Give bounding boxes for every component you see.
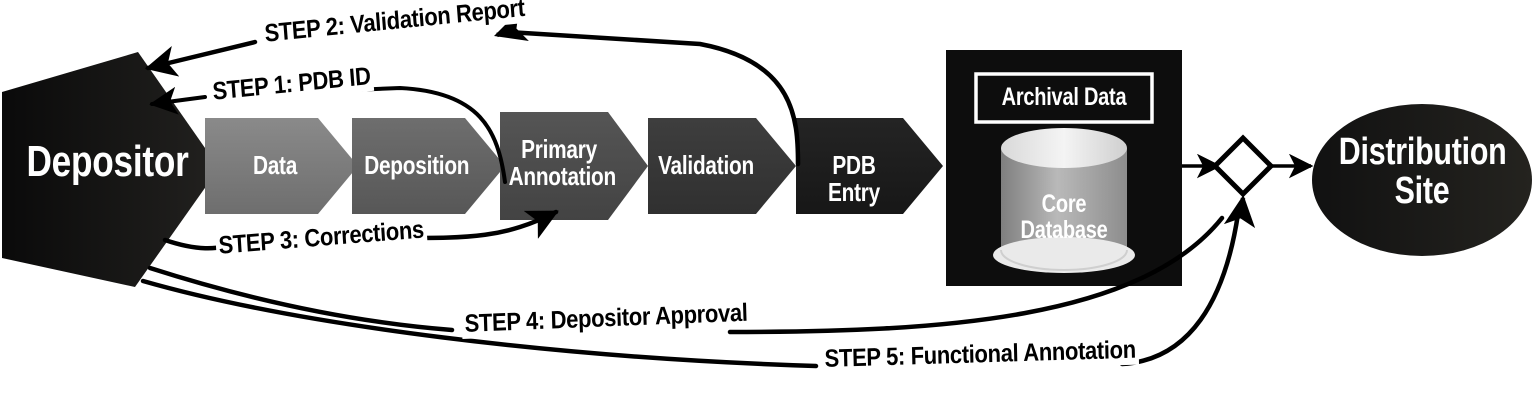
database-cylinder-top — [1001, 128, 1127, 168]
step-4-path-left — [150, 268, 452, 330]
diagram-canvas — [0, 0, 1532, 411]
stage-shape-deposition[interactable] — [352, 118, 505, 214]
depositor-shape[interactable] — [2, 52, 219, 287]
stage-shape-validation[interactable] — [648, 118, 796, 214]
step-45-merge-arrowhead — [1241, 198, 1243, 214]
stage-shape-primary-annotation[interactable] — [500, 112, 648, 220]
distribution-site-shape[interactable] — [1312, 104, 1532, 256]
step-2-path-left — [148, 42, 255, 68]
step-2-arrowhead-mid — [497, 34, 500, 35]
database-cylinder-base — [993, 237, 1135, 273]
workflow-diagram: Depositor Data Deposition Primary Annota… — [0, 0, 1532, 411]
stage-shape-data[interactable] — [205, 118, 358, 214]
stage-shape-pdb-entry[interactable] — [796, 118, 943, 214]
merge-diamond[interactable] — [1215, 138, 1271, 194]
